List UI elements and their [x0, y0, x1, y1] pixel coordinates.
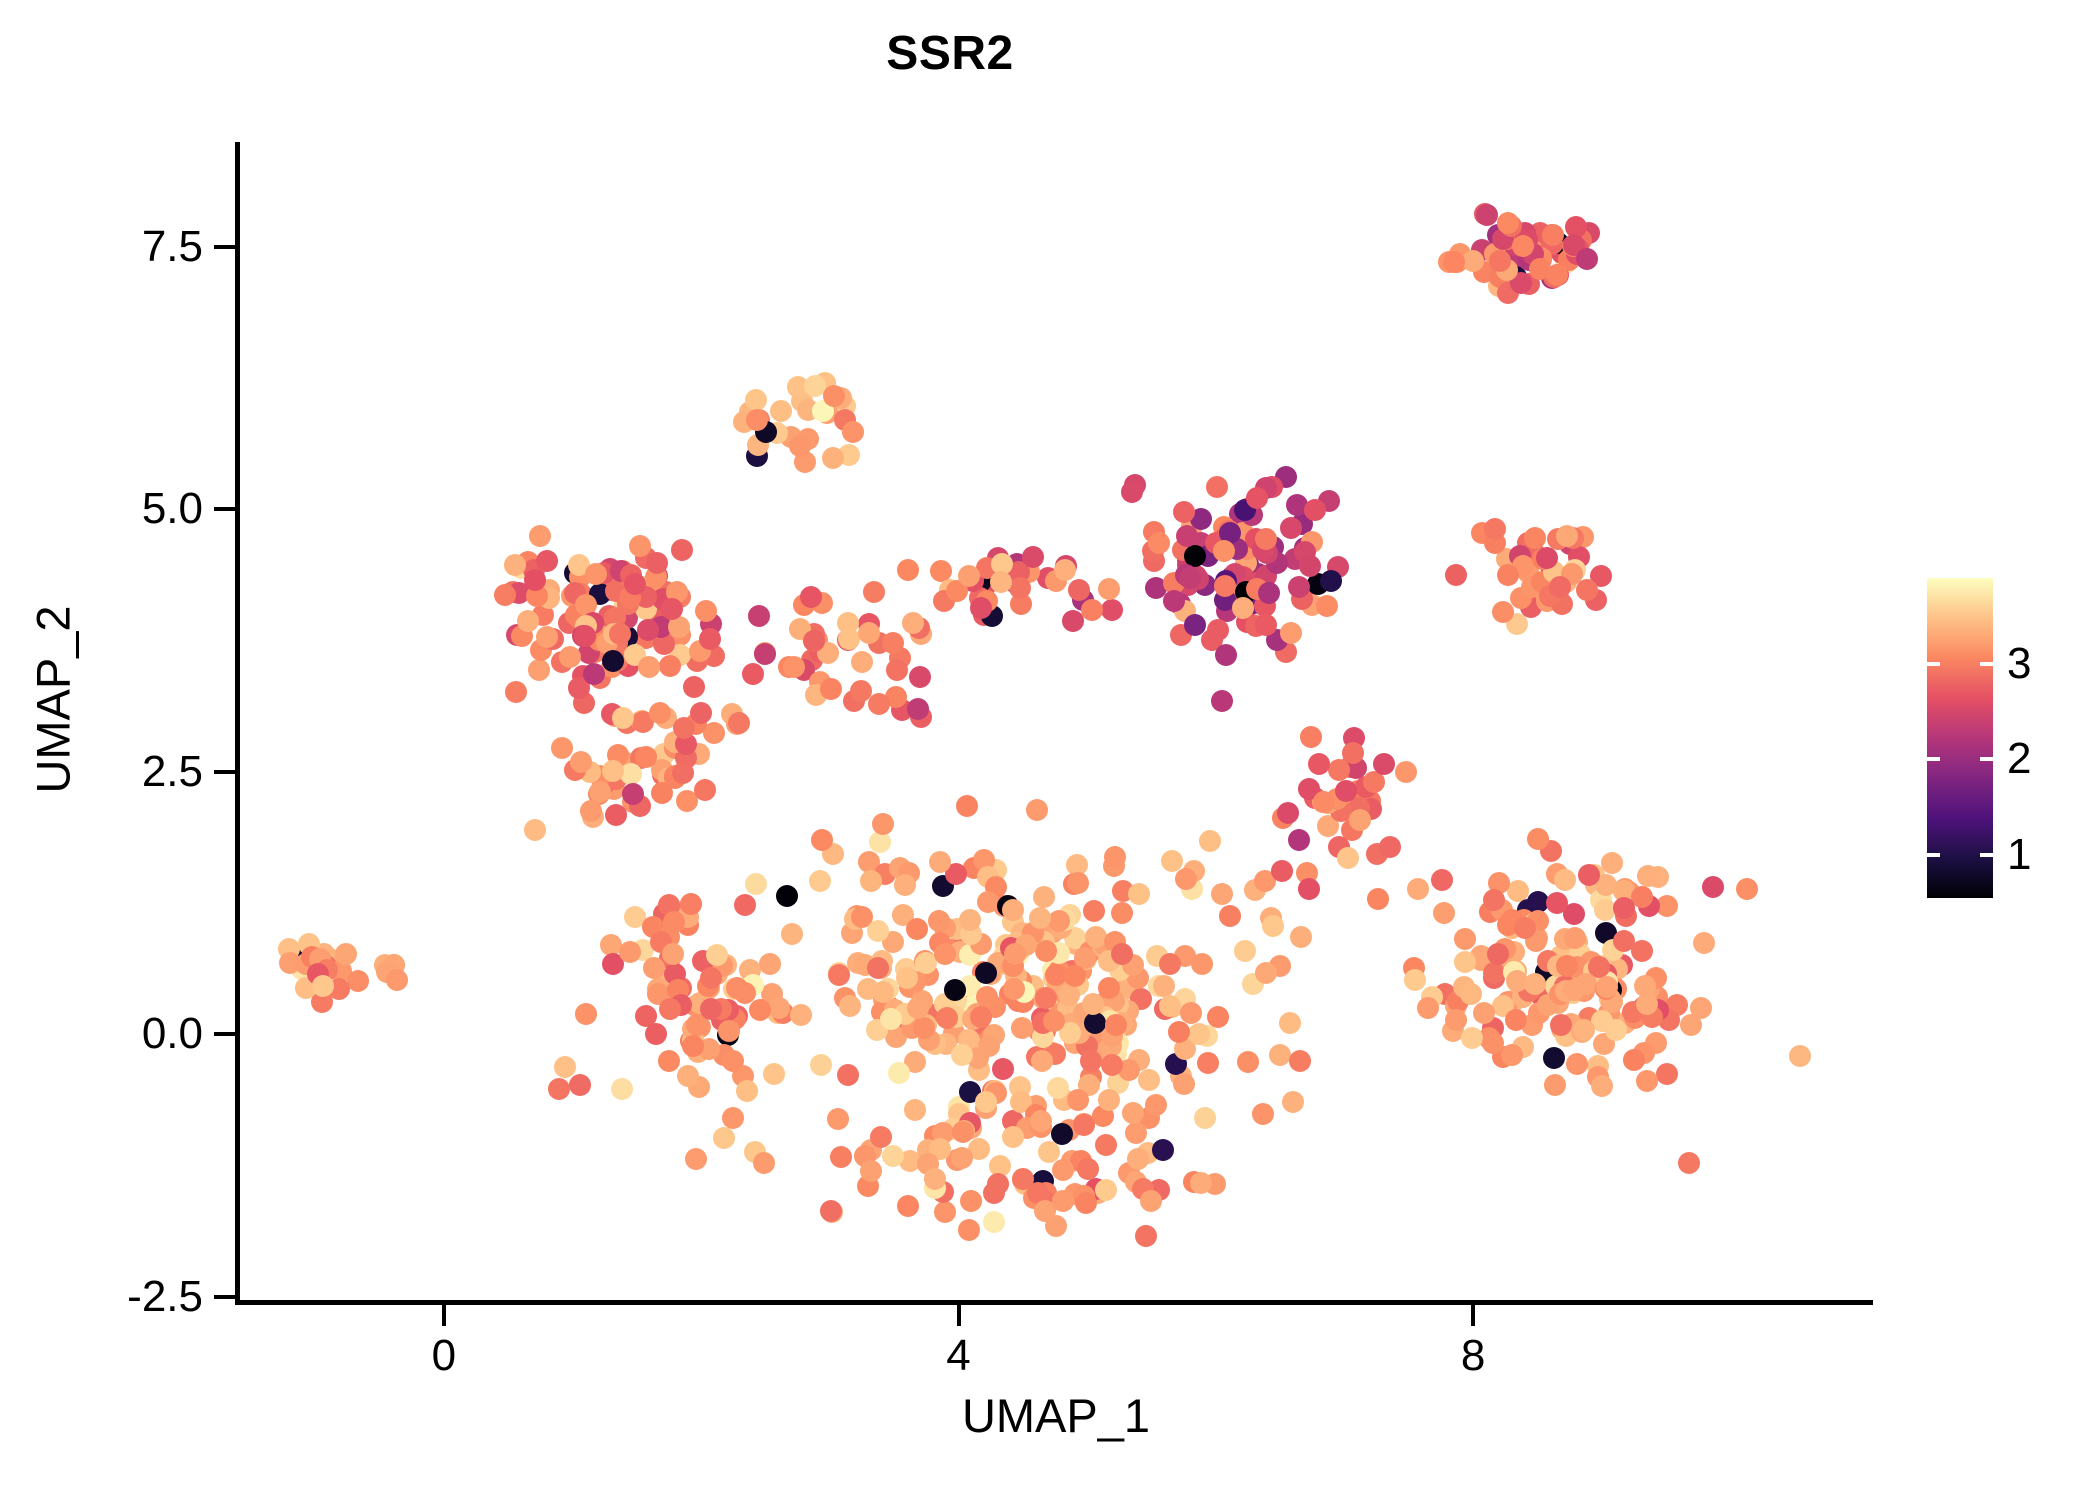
scatter-point: [1128, 883, 1150, 905]
scatter-point: [386, 969, 408, 991]
scatter-point: [763, 1063, 785, 1085]
scatter-point: [822, 447, 844, 469]
x-axis-line: [235, 1300, 1873, 1305]
scatter-point: [1690, 997, 1712, 1019]
scatter-point: [868, 693, 890, 715]
figure-root: SSR2 UMAP_2 UMAP_1 -2.50.02.55.07.5 048 …: [0, 0, 2100, 1500]
scatter-point: [886, 659, 908, 681]
scatter-point: [1211, 690, 1233, 712]
scatter-point: [975, 1091, 997, 1113]
scatter-point: [1505, 1009, 1527, 1031]
scatter-point: [1043, 1010, 1065, 1032]
scatter-point: [1176, 525, 1198, 547]
scatter-point: [1342, 742, 1364, 764]
scatter-point: [661, 598, 683, 620]
scatter-point: [662, 943, 684, 965]
scatter-point: [1214, 575, 1236, 597]
scatter-point: [1514, 917, 1536, 939]
colorbar-tick-mark: [1980, 662, 1993, 666]
scatter-point: [952, 1121, 974, 1143]
x-tick-mark: [1471, 1305, 1475, 1326]
colorbar-tick-label: 1: [2007, 833, 2031, 877]
colorbar-tick-mark: [1980, 853, 1993, 857]
scatter-point: [673, 717, 695, 739]
colorbar-tick-mark: [1927, 853, 1940, 857]
scatter-point: [1395, 761, 1417, 783]
scatter-point: [1373, 753, 1395, 775]
scatter-point: [1443, 251, 1465, 273]
scatter-point: [1138, 1069, 1160, 1091]
scatter-point: [637, 619, 659, 641]
scatter-point: [1462, 250, 1484, 272]
scatter-point: [1052, 1159, 1074, 1181]
scatter-point: [524, 819, 546, 841]
colorbar-legend: [1927, 578, 1993, 898]
scatter-point: [863, 581, 885, 603]
scatter-point: [1258, 582, 1280, 604]
scatter-point: [1031, 1050, 1053, 1072]
scatter-point: [1566, 1053, 1588, 1075]
scatter-point: [1492, 601, 1514, 623]
scatter-point: [690, 702, 712, 724]
scatter-point: [1473, 1002, 1495, 1024]
scatter-point: [896, 967, 918, 989]
scatter-point: [1207, 619, 1229, 641]
scatter-point: [1298, 878, 1320, 900]
scatter-point: [585, 563, 607, 585]
scatter-point: [1431, 869, 1453, 891]
scatter-point: [1288, 829, 1310, 851]
scatter-point: [1789, 1045, 1811, 1067]
scatter-point: [958, 565, 980, 587]
y-tick-label: 7.5: [142, 225, 203, 269]
scatter-point: [754, 643, 776, 665]
scatter-point: [1549, 576, 1571, 598]
scatter-point: [1445, 564, 1467, 586]
scatter-point: [951, 1044, 973, 1066]
scatter-point: [897, 1195, 919, 1217]
scatter-point: [700, 998, 722, 1020]
scatter-point: [1575, 973, 1597, 995]
scatter-point: [1062, 610, 1084, 632]
scatter-point: [977, 891, 999, 913]
scatter-point: [745, 873, 767, 895]
x-tick-label: 0: [384, 1334, 504, 1378]
scatter-point: [882, 632, 904, 654]
scatter-point: [1098, 1089, 1120, 1111]
scatter-point: [1282, 1091, 1304, 1113]
scatter-point: [897, 559, 919, 581]
scatter-point: [1098, 977, 1120, 999]
scatter-point: [960, 1190, 982, 1212]
scatter-point: [1300, 726, 1322, 748]
scatter-point: [622, 783, 644, 805]
scatter-point: [1067, 872, 1089, 894]
scatter-point: [1075, 1192, 1097, 1214]
scatter-point: [1623, 1049, 1645, 1071]
scatter-point: [1105, 1014, 1127, 1036]
scatter-point: [1308, 753, 1330, 775]
scatter-point: [1407, 878, 1429, 900]
scatter-point: [1127, 1148, 1149, 1170]
scatter-point: [951, 1147, 973, 1169]
scatter-point: [870, 1126, 892, 1148]
scatter-point: [742, 663, 764, 685]
scatter-point: [1047, 1077, 1069, 1099]
scatter-point: [1693, 932, 1715, 954]
scatter-point: [524, 569, 546, 591]
scatter-point: [1082, 993, 1104, 1015]
scatter-point: [569, 1074, 591, 1096]
scatter-point: [839, 995, 861, 1017]
scatter-point: [658, 1050, 680, 1072]
scatter-point: [1527, 828, 1549, 850]
scatter-point: [1111, 943, 1133, 965]
scatter-point: [1445, 1009, 1467, 1031]
scatter-point: [1002, 1126, 1024, 1148]
y-axis-title: UMAP_2: [26, 470, 81, 930]
scatter-point: [685, 1148, 707, 1170]
scatter-point: [1433, 902, 1455, 924]
scatter-point: [1637, 865, 1659, 887]
scatter-point: [990, 571, 1012, 593]
scatter-point: [1022, 546, 1044, 568]
y-tick-label: 0.0: [142, 1012, 203, 1056]
scatter-point: [1596, 976, 1618, 998]
scatter-point: [1125, 1122, 1147, 1144]
scatter-point: [1219, 905, 1241, 927]
scatter-point: [1051, 1123, 1073, 1145]
scatter-point: [1702, 876, 1724, 898]
scatter-point: [1111, 902, 1133, 924]
scatter-point: [659, 655, 681, 677]
scatter-point: [1529, 258, 1551, 280]
scatter-point: [1290, 926, 1312, 948]
scatter-point: [1048, 910, 1070, 932]
scatter-point: [335, 943, 357, 965]
scatter-point: [872, 813, 894, 835]
scatter-point: [551, 737, 573, 759]
scatter-point: [646, 552, 668, 574]
scatter-point: [1080, 1050, 1102, 1072]
scatter-point: [505, 681, 527, 703]
scatter-point: [1054, 559, 1076, 581]
scatter-point: [781, 923, 803, 945]
scatter-point: [1483, 889, 1505, 911]
scatter-point: [842, 421, 864, 443]
scatter-point: [759, 953, 781, 975]
scatter-point: [695, 600, 717, 622]
scatter-point: [672, 762, 694, 784]
scatter-point: [605, 804, 627, 826]
scatter-point: [1206, 476, 1228, 498]
scatter-point: [820, 678, 842, 700]
page-title: SSR2: [0, 26, 1900, 81]
scatter-point: [700, 967, 722, 989]
scatter-point: [1190, 1172, 1212, 1194]
scatter-point: [1101, 599, 1123, 621]
scatter-point: [1634, 975, 1656, 997]
scatter-point: [924, 1168, 946, 1190]
scatter-point: [830, 1146, 852, 1168]
scatter-point: [1083, 900, 1105, 922]
scatter-point: [1121, 481, 1143, 503]
scatter-point: [1184, 614, 1206, 636]
scatter-point: [1064, 965, 1086, 987]
scatter-point: [1288, 576, 1310, 598]
scatter-point: [1246, 487, 1268, 509]
scatter-point: [1033, 886, 1055, 908]
scatter-point: [638, 656, 660, 678]
scatter-point: [1011, 1017, 1033, 1039]
x-tick-mark: [957, 1305, 961, 1326]
scatter-point: [1163, 590, 1185, 612]
y-tick-mark: [214, 507, 235, 511]
scatter-point: [867, 957, 889, 979]
scatter-point: [1280, 517, 1302, 539]
scatter-point: [909, 666, 931, 688]
scatter-point: [1262, 915, 1284, 937]
scatter-point: [770, 400, 792, 422]
scatter-point: [1237, 1051, 1259, 1073]
scatter-point: [1454, 951, 1476, 973]
scatter-point: [1215, 644, 1237, 666]
scatter-point: [958, 1219, 980, 1241]
scatter-point: [1188, 1023, 1210, 1045]
scatter-point: [671, 539, 693, 561]
scatter-point: [1573, 1019, 1595, 1041]
scatter-point: [609, 623, 631, 645]
scatter-point: [934, 1201, 956, 1223]
scatter-point: [1417, 997, 1439, 1019]
scatter-point: [1277, 802, 1299, 824]
scatter-point: [1289, 1050, 1311, 1072]
y-tick-label: 5.0: [142, 487, 203, 531]
scatter-point: [811, 829, 833, 851]
scatter-point: [1145, 1094, 1167, 1116]
scatter-point: [1095, 1134, 1117, 1156]
scatter-point: [611, 1078, 633, 1100]
scatter-point: [745, 389, 767, 411]
scatter-point: [1271, 860, 1293, 882]
scatter-point: [1404, 969, 1426, 991]
scatter-point: [1026, 799, 1048, 821]
scatter-point: [312, 975, 334, 997]
scatter-point: [1320, 570, 1342, 592]
scatter-point: [1255, 614, 1277, 636]
scatter-point: [983, 1211, 1005, 1233]
scatter-point: [1269, 1044, 1291, 1066]
scatter-point: [713, 1127, 735, 1149]
scatter-point: [894, 874, 916, 896]
scatter-point: [1194, 1107, 1216, 1129]
scatter-point: [1104, 846, 1126, 868]
colorbar-tick-mark: [1927, 662, 1940, 666]
scatter-point: [1140, 1190, 1162, 1212]
scatter-point: [976, 986, 998, 1008]
scatter-point: [1095, 1179, 1117, 1201]
scatter-point: [574, 625, 596, 647]
scatter-point: [602, 760, 624, 782]
scatter-point: [683, 676, 705, 698]
scatter-point: [1197, 1052, 1219, 1074]
scatter-point: [1255, 962, 1277, 984]
scatter-point: [1349, 809, 1371, 831]
scatter-point: [1631, 940, 1653, 962]
scatter-point: [1153, 975, 1175, 997]
scatter-point: [1084, 1012, 1106, 1034]
scatter-point: [906, 918, 928, 940]
scatter-point: [928, 910, 950, 932]
scatter-point: [1678, 1152, 1700, 1174]
scatter-point: [528, 659, 550, 681]
y-tick-mark: [214, 770, 235, 774]
scatter-point: [1316, 595, 1338, 617]
scatter-point: [902, 612, 924, 634]
scatter-plot-panel: [238, 142, 1872, 1302]
scatter-point: [860, 1160, 882, 1182]
scatter-point: [1159, 953, 1181, 975]
scatter-point: [837, 1064, 859, 1086]
x-tick-label: 8: [1413, 1334, 1533, 1378]
scatter-point: [748, 605, 770, 627]
scatter-point: [722, 1050, 744, 1072]
y-tick-mark: [214, 1032, 235, 1036]
scatter-point: [1280, 622, 1302, 644]
scatter-point: [736, 1080, 758, 1102]
scatter-point: [536, 626, 558, 648]
y-tick-label: 2.5: [142, 750, 203, 794]
scatter-point: [783, 656, 805, 678]
scatter-point: [838, 628, 860, 650]
scatter-point: [1180, 1002, 1202, 1024]
scatter-point: [1135, 1225, 1157, 1247]
scatter-point: [1501, 1044, 1523, 1066]
scatter-point: [1098, 578, 1120, 600]
scatter-point: [1213, 540, 1235, 562]
scatter-point: [1543, 1047, 1565, 1069]
scatter-point: [1379, 836, 1401, 858]
scatter-point: [612, 707, 634, 729]
scatter-point: [680, 893, 702, 915]
scatter-point: [1556, 525, 1578, 547]
scatter-point: [789, 435, 811, 457]
scatter-point: [1081, 599, 1103, 621]
scatter-point: [809, 870, 831, 892]
scatter-point: [803, 630, 825, 652]
colorbar-tick-label: 3: [2007, 642, 2031, 686]
scatter-point: [575, 1003, 597, 1025]
scatter-point: [548, 1078, 570, 1100]
scatter-point: [1497, 564, 1519, 586]
scatter-point: [1544, 1074, 1566, 1096]
scatter-point: [888, 1062, 910, 1084]
scatter-point: [517, 610, 539, 632]
scatter-point: [706, 944, 728, 966]
scatter-point: [734, 894, 756, 916]
y-tick-mark: [214, 1295, 235, 1299]
scatter-point: [529, 525, 551, 547]
scatter-point: [1601, 852, 1623, 874]
scatter-point: [1068, 579, 1090, 601]
scatter-point: [827, 1108, 849, 1130]
scatter-point: [970, 597, 992, 619]
scatter-point: [1211, 883, 1233, 905]
scatter-point: [851, 651, 873, 673]
scatter-point: [1554, 869, 1576, 891]
y-tick-label: -2.5: [127, 1275, 203, 1319]
scatter-point: [1524, 973, 1546, 995]
colorbar-tick-label: 2: [2007, 737, 2031, 781]
scatter-point: [1004, 943, 1026, 965]
colorbar-gradient: [1927, 578, 1993, 898]
scatter-point: [1073, 1114, 1095, 1136]
scatter-point: [1484, 518, 1506, 540]
scatter-point: [635, 746, 657, 768]
scatter-point: [1736, 878, 1758, 900]
x-tick-mark: [442, 1305, 446, 1326]
scatter-point: [699, 628, 721, 650]
scatter-point: [722, 1107, 744, 1129]
scatter-point: [1524, 527, 1546, 549]
scatter-point: [1077, 1158, 1099, 1180]
scatter-point: [790, 1004, 812, 1026]
colorbar-tick-mark: [1927, 757, 1940, 761]
scatter-point: [1207, 1006, 1229, 1028]
scatter-point: [929, 851, 951, 873]
scatter-point: [682, 1035, 704, 1057]
scatter-point: [867, 920, 889, 942]
scatter-point: [907, 997, 929, 1019]
scatter-point: [1460, 983, 1482, 1005]
scatter-point: [776, 885, 798, 907]
scatter-point: [1232, 597, 1254, 619]
scatter-point: [728, 712, 750, 734]
scatter-point: [1279, 1012, 1301, 1034]
scatter-point: [663, 911, 685, 933]
scatter-point: [904, 1099, 926, 1121]
scatter-point: [602, 650, 624, 672]
scatter-point: [1591, 1075, 1613, 1097]
scatter-point: [1335, 780, 1357, 802]
scatter-point: [1536, 547, 1558, 569]
scatter-point: [1656, 1063, 1678, 1085]
scatter-point: [944, 979, 966, 1001]
scatter-point: [1058, 984, 1080, 1006]
scatter-point: [1191, 953, 1213, 975]
scatter-point: [936, 1007, 958, 1029]
colorbar-tick-mark: [1980, 757, 1993, 761]
scatter-point: [810, 1054, 832, 1076]
scatter-point: [992, 1058, 1014, 1080]
x-axis-title: UMAP_1: [236, 1388, 1876, 1443]
y-axis-line: [235, 142, 240, 1305]
scatter-point: [1578, 864, 1600, 886]
scatter-point: [882, 1145, 904, 1167]
x-tick-label: 4: [899, 1334, 1019, 1378]
scatter-point: [1199, 830, 1221, 852]
scatter-point: [1564, 927, 1586, 949]
scatter-point: [1148, 532, 1170, 554]
scatter-point: [1030, 1110, 1052, 1132]
scatter-point: [1512, 235, 1534, 257]
scatter-point: [956, 795, 978, 817]
scatter-point: [1367, 888, 1389, 910]
y-tick-mark: [214, 245, 235, 249]
scatter-point: [629, 535, 651, 557]
scatter-point: [1636, 1070, 1658, 1092]
scatter-point: [1556, 955, 1578, 977]
